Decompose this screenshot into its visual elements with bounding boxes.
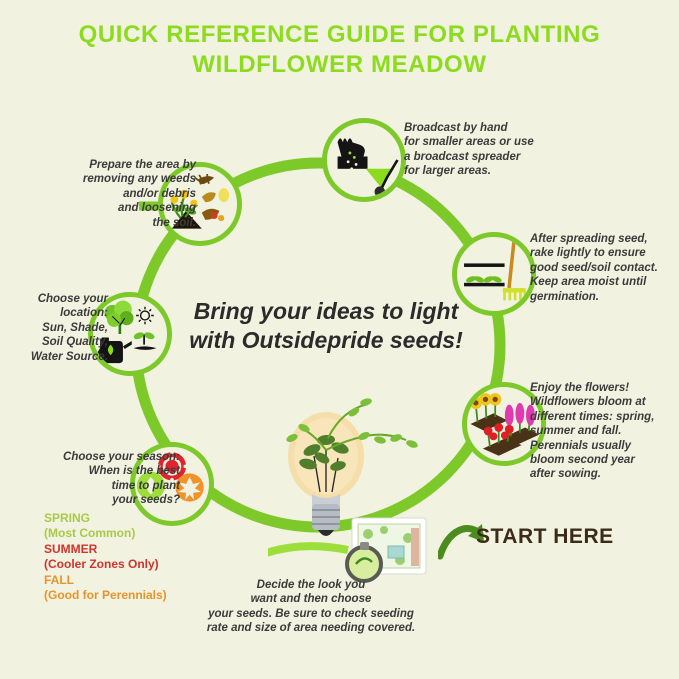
callout-season: Choose your season: When is the best tim… — [8, 450, 180, 604]
callout-season-question: Choose your season: When is the best tim… — [8, 450, 180, 508]
season-spring-note: (Most Common) — [44, 526, 180, 542]
infographic-canvas: QUICK REFERENCE GUIDE FOR PLANTING WILDF… — [0, 0, 679, 679]
callout-decide: Decide the look you want and then choose… — [196, 578, 426, 636]
season-summer-note: (Cooler Zones Only) — [44, 557, 180, 573]
slogan-line-2: with Outsidepride seeds! — [176, 326, 476, 355]
season-list: SPRING (Most Common) SUMMER (Cooler Zone… — [8, 511, 180, 604]
hand-spreading-seed-icon — [327, 123, 401, 197]
season-fall-name: FALL — [44, 573, 180, 589]
callout-location: Choose your location: Sun, Shade, Soil Q… — [8, 292, 108, 364]
callout-rake: After spreading seed, rake lightly to en… — [530, 232, 679, 304]
brand-slogan: Bring your ideas to light with Outsidepr… — [176, 297, 476, 355]
callout-enjoy: Enjoy the flowers! Wildflowers bloom at … — [530, 381, 679, 482]
step-icon-broadcast[interactable] — [322, 118, 406, 202]
season-summer-name: SUMMER — [44, 542, 180, 558]
season-fall-note: (Good for Perennials) — [44, 588, 180, 604]
callout-prepare: Prepare the area by removing any weeds a… — [48, 158, 196, 230]
season-spring-name: SPRING — [44, 511, 180, 527]
callout-broadcast: Broadcast by hand for smaller areas or u… — [404, 121, 564, 179]
start-here-label: START HERE — [476, 525, 614, 549]
lightbulb-garden-plan-icon — [268, 378, 448, 583]
slogan-line-1: Bring your ideas to light — [176, 297, 476, 326]
